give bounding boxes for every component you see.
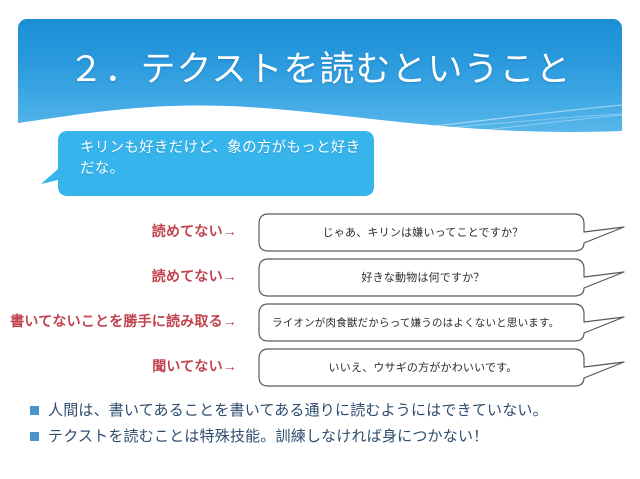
reply-speech-bubble: ライオンが肉食獣だからって嫌うのはよくないと思います。 — [258, 303, 626, 343]
reply-bubble-text: じゃあ、キリンは嫌いってことですか？ — [268, 213, 578, 251]
reply-row: 読めてない→ 好きな動物は何ですか？ — [0, 258, 640, 298]
row-annotation-label: 書いてないことを勝手に読み取る→ — [10, 311, 237, 331]
reply-bubble-text: いいえ、ウサギの方がかわいいです。 — [268, 348, 578, 386]
conclusion-bullet-list: 人間は、書いてあることを書いてある通りに読むようにはできていない。 テクストを読… — [30, 400, 630, 452]
row-annotation-label: 読めてない→ — [152, 221, 237, 241]
reply-row: 読めてない→ じゃあ、キリンは嫌いってことですか？ — [0, 213, 640, 253]
reply-speech-bubble: 好きな動物は何ですか？ — [258, 258, 626, 298]
slide-header-banner — [18, 19, 622, 146]
bullet-list-item: テクストを読むことは特殊技能。訓練しなければ身につかない！ — [30, 426, 630, 447]
row-annotation-label: 読めてない→ — [152, 266, 237, 286]
bullet-item-label: 人間は、書いてあることを書いてある通りに読むようにはできていない。 — [48, 400, 548, 421]
bullet-item-label: テクストを読むことは特殊技能。訓練しなければ身につかない！ — [48, 426, 488, 447]
reply-speech-bubble: じゃあ、キリンは嫌いってことですか？ — [258, 213, 626, 253]
slide-canvas: ２．テクストを読むということ キリンも好きだけど、象の方がもっと好きだな。 読め… — [0, 0, 640, 479]
square-bullet-icon — [30, 432, 39, 441]
reply-row: 書いてないことを勝手に読み取る→ ライオンが肉食獣だからって嫌うのはよくないと思… — [0, 303, 640, 343]
square-bullet-icon — [30, 406, 39, 415]
bullet-list-item: 人間は、書いてあることを書いてある通りに読むようにはできていない。 — [30, 400, 630, 421]
reply-row: 聞いてない→ いいえ、ウサギの方がかわいいです。 — [0, 348, 640, 388]
speaker-bubble-text: キリンも好きだけど、象の方がもっと好きだな。 — [80, 138, 366, 180]
reply-bubble-text: 好きな動物は何ですか？ — [268, 258, 578, 296]
row-annotation-label: 聞いてない→ — [152, 356, 237, 376]
reply-speech-bubble: いいえ、ウサギの方がかわいいです。 — [258, 348, 626, 388]
header-wave-decoration — [18, 19, 622, 146]
speaker-speech-bubble: キリンも好きだけど、象の方がもっと好きだな。 — [40, 128, 380, 200]
reply-bubble-text: ライオンが肉食獣だからって嫌うのはよくないと思います。 — [268, 303, 578, 341]
